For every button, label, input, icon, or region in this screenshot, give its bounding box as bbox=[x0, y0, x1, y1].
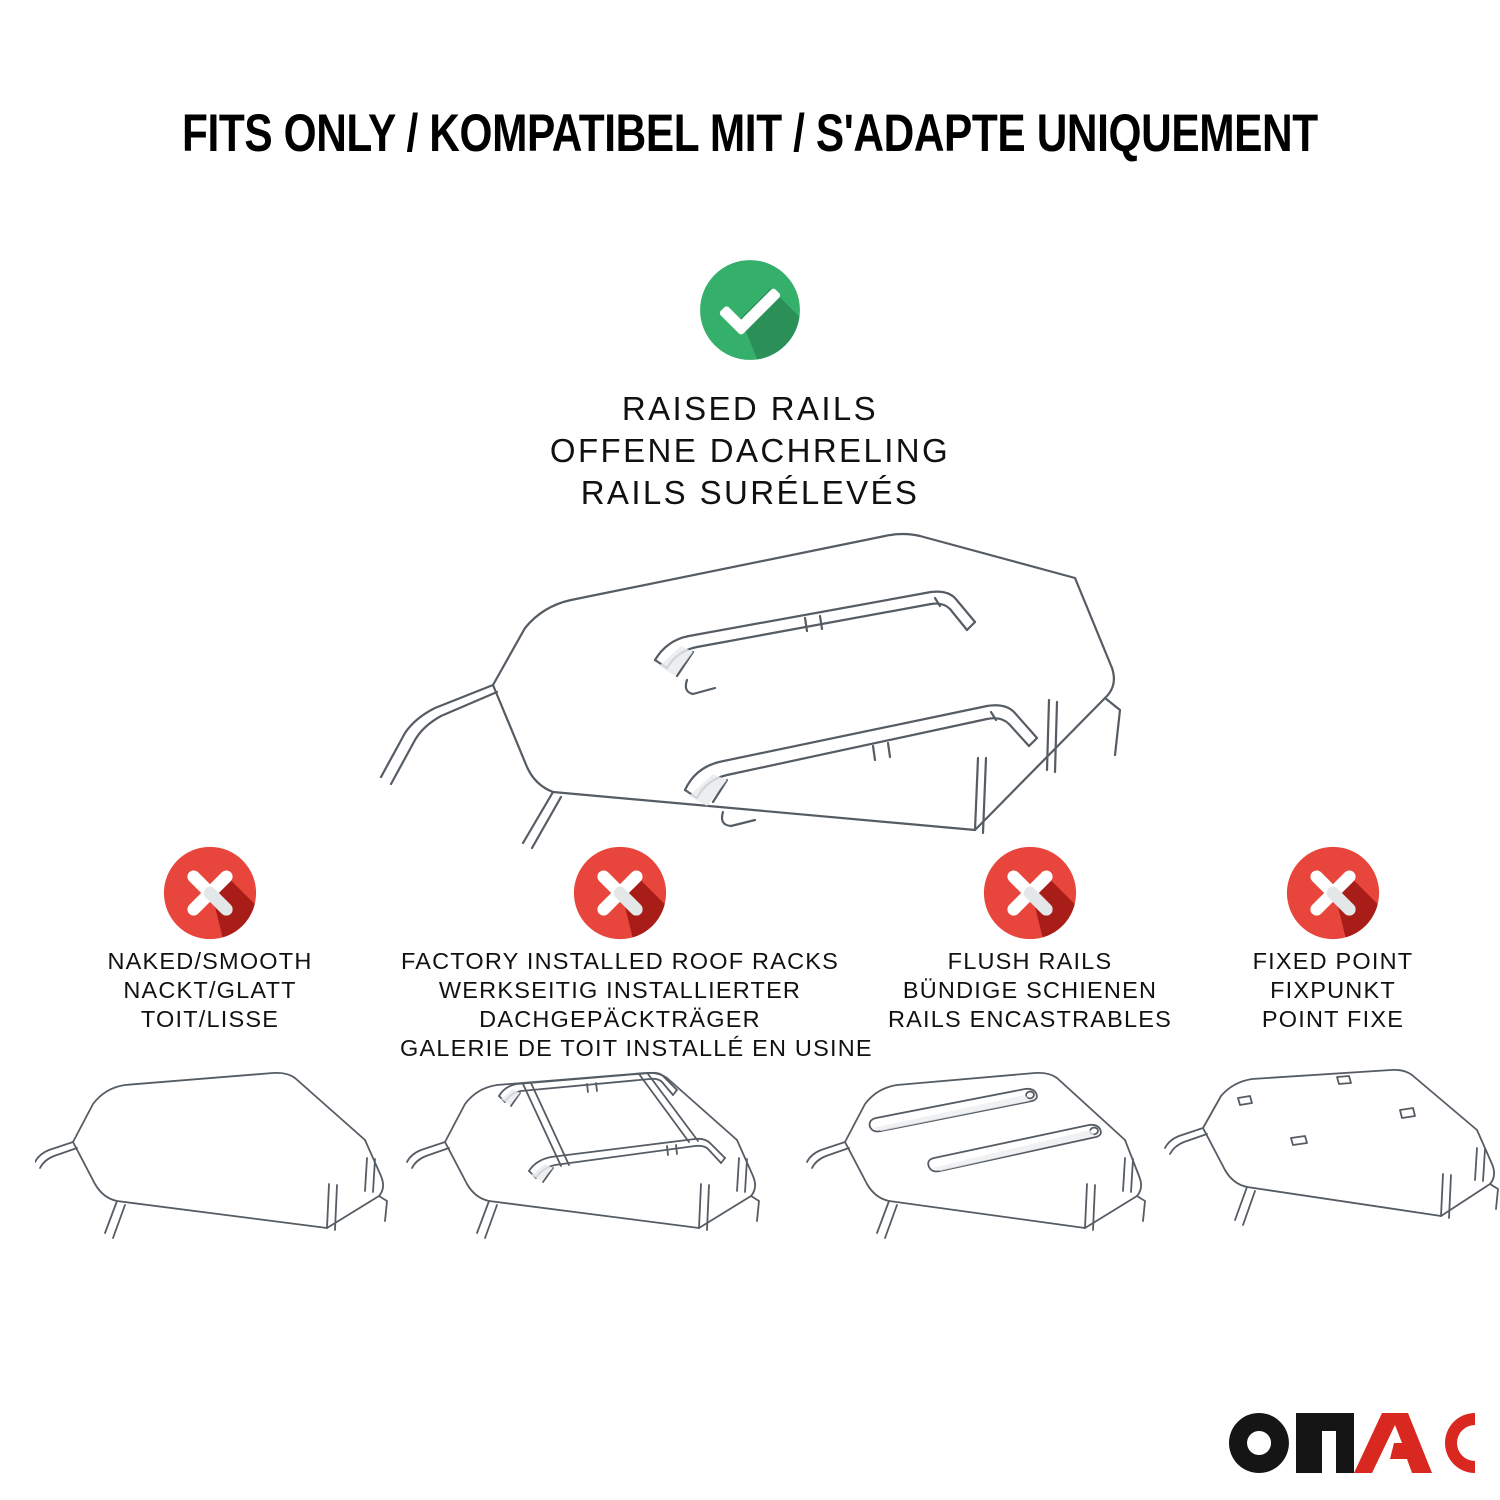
page-title: FITS ONLY / KOMPATIBEL MIT / S'ADAPTE UN… bbox=[182, 104, 1318, 164]
logo-letter-o bbox=[1229, 1413, 1289, 1473]
incompatible-item-factory-racks: FACTORY INSTALLED ROOF RACKS WERKSEITIG … bbox=[400, 845, 840, 1063]
car-roof-fixed-points-illustration bbox=[1155, 1058, 1500, 1288]
red-x-icon bbox=[162, 845, 258, 941]
red-x-icon bbox=[1285, 845, 1381, 941]
red-x-icon bbox=[572, 845, 668, 941]
incompatible-item-fixed-point: FIXED POINT FIXPUNKT POINT FIXE bbox=[1208, 845, 1458, 1034]
label-group-naked-smooth: NAKED/SMOOTH NACKT/GLATT TOIT/LISSE bbox=[85, 947, 335, 1034]
logo-letter-m bbox=[1296, 1413, 1354, 1473]
label-factory-racks-de2: DACHGEPÄCKTRÄGER bbox=[400, 1005, 840, 1034]
label-fixed-point-fr: POINT FIXE bbox=[1208, 1005, 1458, 1034]
label-group-factory-racks: FACTORY INSTALLED ROOF RACKS WERKSEITIG … bbox=[400, 947, 840, 1063]
car-roof-crossbars-illustration bbox=[405, 1058, 780, 1288]
red-x-icon bbox=[982, 845, 1078, 941]
label-factory-racks-de1: WERKSEITIG INSTALLIERTER bbox=[400, 976, 840, 1005]
omac-logo: OMAC bbox=[1226, 1412, 1476, 1474]
label-naked-smooth-fr: TOIT/LISSE bbox=[85, 1005, 335, 1034]
compatible-label-en: RAISED RAILS bbox=[0, 388, 1500, 430]
logo-letter-a bbox=[1354, 1413, 1432, 1473]
car-roof-flush-rails-illustration bbox=[785, 1058, 1160, 1288]
page-title-bar: FITS ONLY / KOMPATIBEL MIT / S'ADAPTE UN… bbox=[0, 104, 1500, 164]
label-fixed-point-de: FIXPUNKT bbox=[1208, 976, 1458, 1005]
car-roof-raised-rails-illustration bbox=[375, 500, 1125, 850]
label-group-fixed-point: FIXED POINT FIXPUNKT POINT FIXE bbox=[1208, 947, 1458, 1034]
label-flush-rails-de: BÜNDIGE SCHIENEN bbox=[855, 976, 1205, 1005]
label-factory-racks-en: FACTORY INSTALLED ROOF RACKS bbox=[400, 947, 840, 976]
compatible-label-de: OFFENE DACHRELING bbox=[0, 430, 1500, 472]
label-group-flush-rails: FLUSH RAILS BÜNDIGE SCHIENEN RAILS ENCAS… bbox=[855, 947, 1205, 1034]
label-flush-rails-fr: RAILS ENCASTRABLES bbox=[855, 1005, 1205, 1034]
label-naked-smooth-en: NAKED/SMOOTH bbox=[85, 947, 335, 976]
green-check-icon bbox=[698, 258, 802, 362]
label-fixed-point-en: FIXED POINT bbox=[1208, 947, 1458, 976]
logo-letter-c bbox=[1445, 1413, 1475, 1473]
car-roof-bare-illustration bbox=[35, 1058, 405, 1288]
incompatible-item-flush-rails: FLUSH RAILS BÜNDIGE SCHIENEN RAILS ENCAS… bbox=[855, 845, 1205, 1034]
label-naked-smooth-de: NACKT/GLATT bbox=[85, 976, 335, 1005]
compatible-labels: RAISED RAILS OFFENE DACHRELING RAILS SUR… bbox=[0, 388, 1500, 514]
compatible-section: RAISED RAILS OFFENE DACHRELING RAILS SUR… bbox=[0, 258, 1500, 514]
label-flush-rails-en: FLUSH RAILS bbox=[855, 947, 1205, 976]
incompatible-item-naked-smooth: NAKED/SMOOTH NACKT/GLATT TOIT/LISSE bbox=[85, 845, 335, 1034]
